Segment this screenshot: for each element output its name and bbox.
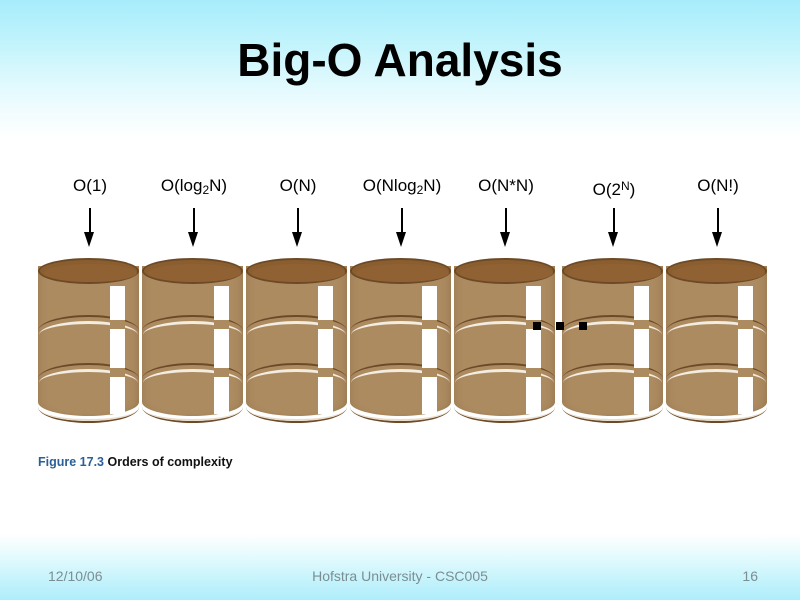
complexity-label-factorial: O(N!) xyxy=(638,176,798,196)
barrel-gloss-break-upper xyxy=(110,320,125,329)
figure-number: Figure 17.3 xyxy=(38,455,104,469)
barrel-gloss-break-lower xyxy=(738,368,753,377)
down-arrow-icon xyxy=(296,208,300,246)
barrel-gloss-break-lower xyxy=(214,368,229,377)
barrel-logarithmic xyxy=(142,258,243,423)
footer-center-text: Hofstra University - CSC005 xyxy=(0,568,800,584)
complexity-figure: O(1)O(log2N)O(N)O(Nlog2N)O(N*N)O(2N)O(N!… xyxy=(0,0,800,600)
barrel-gloss-break-lower xyxy=(110,368,125,377)
down-arrow-icon xyxy=(612,208,616,246)
barrel-rim xyxy=(454,258,555,284)
figure-caption: Figure 17.3 Orders of complexity xyxy=(38,455,233,469)
barrel-rim xyxy=(350,258,451,284)
barrel-rim xyxy=(142,258,243,284)
barrel-rim-inner xyxy=(460,264,553,282)
barrel-linear xyxy=(246,258,347,423)
barrel-gloss-break-upper xyxy=(738,320,753,329)
barrel-rim-inner xyxy=(148,264,241,282)
barrel-rim-inner xyxy=(568,264,661,282)
barrel-gloss-stripe xyxy=(634,286,649,414)
barrel-gloss-break-upper xyxy=(422,320,437,329)
barrel-rim-inner xyxy=(356,264,449,282)
ellipsis-dot xyxy=(556,322,564,330)
down-arrow-icon xyxy=(716,208,720,246)
barrel-rim-inner xyxy=(44,264,137,282)
barrel-constant xyxy=(38,258,139,423)
barrel-gloss-stripe xyxy=(422,286,437,414)
barrel-gloss-stripe xyxy=(738,286,753,414)
barrel-factorial xyxy=(666,258,767,423)
barrel-rim xyxy=(562,258,663,284)
ellipsis-dot xyxy=(533,322,541,330)
barrel-gloss-break-upper xyxy=(634,320,649,329)
barrel-rim xyxy=(246,258,347,284)
barrel-rim xyxy=(666,258,767,284)
barrel-gloss-break-upper xyxy=(214,320,229,329)
barrel-gloss-break-lower xyxy=(526,368,541,377)
slide: Big-O Analysis O(1)O(log2N)O(N)O(Nlog2N)… xyxy=(0,0,800,600)
barrel-gloss-break-lower xyxy=(318,368,333,377)
barrel-gloss-break-upper xyxy=(318,320,333,329)
barrel-gloss-stripe xyxy=(214,286,229,414)
barrel-linearithmic xyxy=(350,258,451,423)
down-arrow-icon xyxy=(88,208,92,246)
down-arrow-icon xyxy=(400,208,404,246)
barrel-quadratic xyxy=(454,258,555,423)
barrel-rim xyxy=(38,258,139,284)
footer-page-number: 16 xyxy=(742,568,758,584)
ellipsis-dot xyxy=(579,322,587,330)
down-arrow-icon xyxy=(504,208,508,246)
figure-caption-text: Orders of complexity xyxy=(107,455,232,469)
barrel-exponential xyxy=(562,258,663,423)
barrel-rim-inner xyxy=(252,264,345,282)
barrel-gloss-break-lower xyxy=(422,368,437,377)
barrel-gloss-break-lower xyxy=(634,368,649,377)
barrel-gloss-stripe xyxy=(526,286,541,414)
barrel-gloss-stripe xyxy=(318,286,333,414)
barrel-rim-inner xyxy=(672,264,765,282)
barrel-gloss-stripe xyxy=(110,286,125,414)
down-arrow-icon xyxy=(192,208,196,246)
ellipsis-dots xyxy=(533,322,587,330)
